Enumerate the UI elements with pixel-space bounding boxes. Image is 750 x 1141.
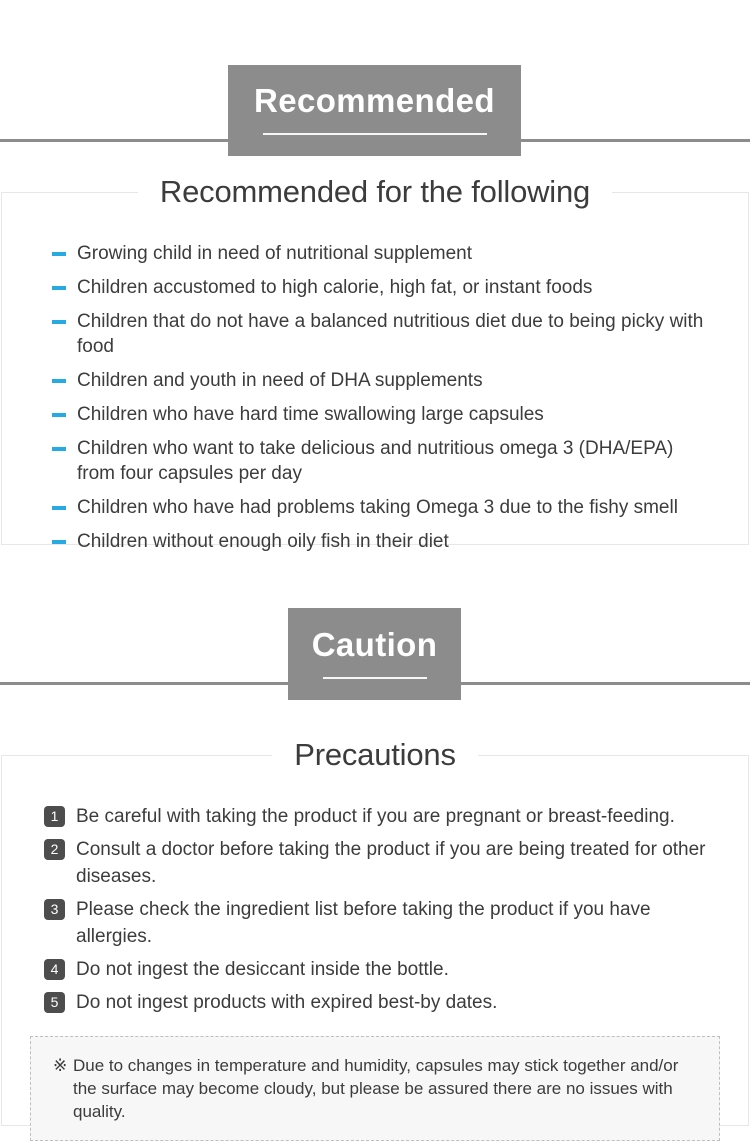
list-item: Children who have had problems taking Om… bbox=[50, 495, 708, 520]
list-item-text: Please check the ingredient list before … bbox=[76, 899, 651, 947]
list-item: Children who have hard time swallowing l… bbox=[50, 402, 708, 427]
list-item: 1 Be careful with taking the product if … bbox=[44, 803, 716, 830]
list-item: 4 Do not ingest the desiccant inside the… bbox=[44, 956, 716, 983]
list-item: 5 Do not ingest products with expired be… bbox=[44, 989, 716, 1016]
banner-badge-label-caution: Caution bbox=[288, 608, 461, 661]
banner-badge-label-recommended: Recommended bbox=[228, 65, 521, 117]
list-item-text: Children who have had problems taking Om… bbox=[77, 497, 678, 518]
list-item: Children accustomed to high calorie, hig… bbox=[50, 275, 708, 300]
number-badge: 4 bbox=[44, 959, 65, 980]
dash-bullet-icon bbox=[52, 447, 66, 451]
banner-badge-underline-caution bbox=[323, 677, 427, 679]
recommended-list: Growing child in need of nutritional sup… bbox=[2, 193, 748, 554]
dash-bullet-icon bbox=[52, 379, 66, 383]
section-banner-caution: Caution bbox=[0, 608, 750, 700]
list-item: 2 Consult a doctor before taking the pro… bbox=[44, 836, 716, 890]
list-item: Growing child in need of nutritional sup… bbox=[50, 241, 708, 266]
list-item: Children and youth in need of DHA supple… bbox=[50, 368, 708, 393]
list-item-text: Children without enough oily fish in the… bbox=[77, 531, 449, 552]
list-item-text: Growing child in need of nutritional sup… bbox=[77, 243, 472, 264]
list-item-text: Do not ingest products with expired best… bbox=[76, 992, 497, 1013]
number-badge: 3 bbox=[44, 899, 65, 920]
number-badge: 5 bbox=[44, 992, 65, 1013]
list-item-text: Do not ingest the desiccant inside the b… bbox=[76, 959, 449, 980]
dash-bullet-icon bbox=[52, 506, 66, 510]
precautions-card: Precautions 1 Be careful with taking the… bbox=[1, 755, 749, 1126]
dash-bullet-icon bbox=[52, 252, 66, 256]
dash-bullet-icon bbox=[52, 286, 66, 290]
top-spacer bbox=[0, 0, 750, 20]
recommended-card: Recommended for the following Growing ch… bbox=[1, 192, 749, 545]
dash-bullet-icon bbox=[52, 540, 66, 544]
list-item-text: Children that do not have a balanced nut… bbox=[77, 311, 703, 357]
number-badge: 1 bbox=[44, 806, 65, 827]
number-badge: 2 bbox=[44, 839, 65, 860]
section-banner-recommended: Recommended bbox=[0, 20, 750, 156]
quality-note-text: Due to changes in temperature and humidi… bbox=[73, 1056, 678, 1121]
list-item-text: Be careful with taking the product if yo… bbox=[76, 806, 675, 827]
list-item-text: Children who have hard time swallowing l… bbox=[77, 404, 544, 425]
quality-note-box: ※ Due to changes in temperature and humi… bbox=[30, 1036, 720, 1141]
list-item: 3 Please check the ingredient list befor… bbox=[44, 896, 716, 950]
product-info-page: Recommended Recommended for the followin… bbox=[0, 0, 750, 1137]
list-item-text: Consult a doctor before taking the produ… bbox=[76, 839, 706, 887]
banner-badge-caution: Caution bbox=[288, 608, 461, 700]
list-item-text: Children who want to take delicious and … bbox=[77, 438, 673, 484]
list-item-text: Children accustomed to high calorie, hig… bbox=[77, 277, 592, 298]
list-item-text: Children and youth in need of DHA supple… bbox=[77, 370, 483, 391]
banner-badge-recommended: Recommended bbox=[228, 65, 521, 156]
dash-bullet-icon bbox=[52, 413, 66, 417]
list-item: Children who want to take delicious and … bbox=[50, 436, 708, 486]
dash-bullet-icon bbox=[52, 320, 66, 324]
reference-mark-icon: ※ bbox=[53, 1054, 67, 1077]
list-item: Children that do not have a balanced nut… bbox=[50, 309, 708, 359]
precautions-list: 1 Be careful with taking the product if … bbox=[2, 756, 748, 1016]
banner-badge-underline-recommended bbox=[263, 133, 487, 135]
list-item: Children without enough oily fish in the… bbox=[50, 529, 708, 554]
